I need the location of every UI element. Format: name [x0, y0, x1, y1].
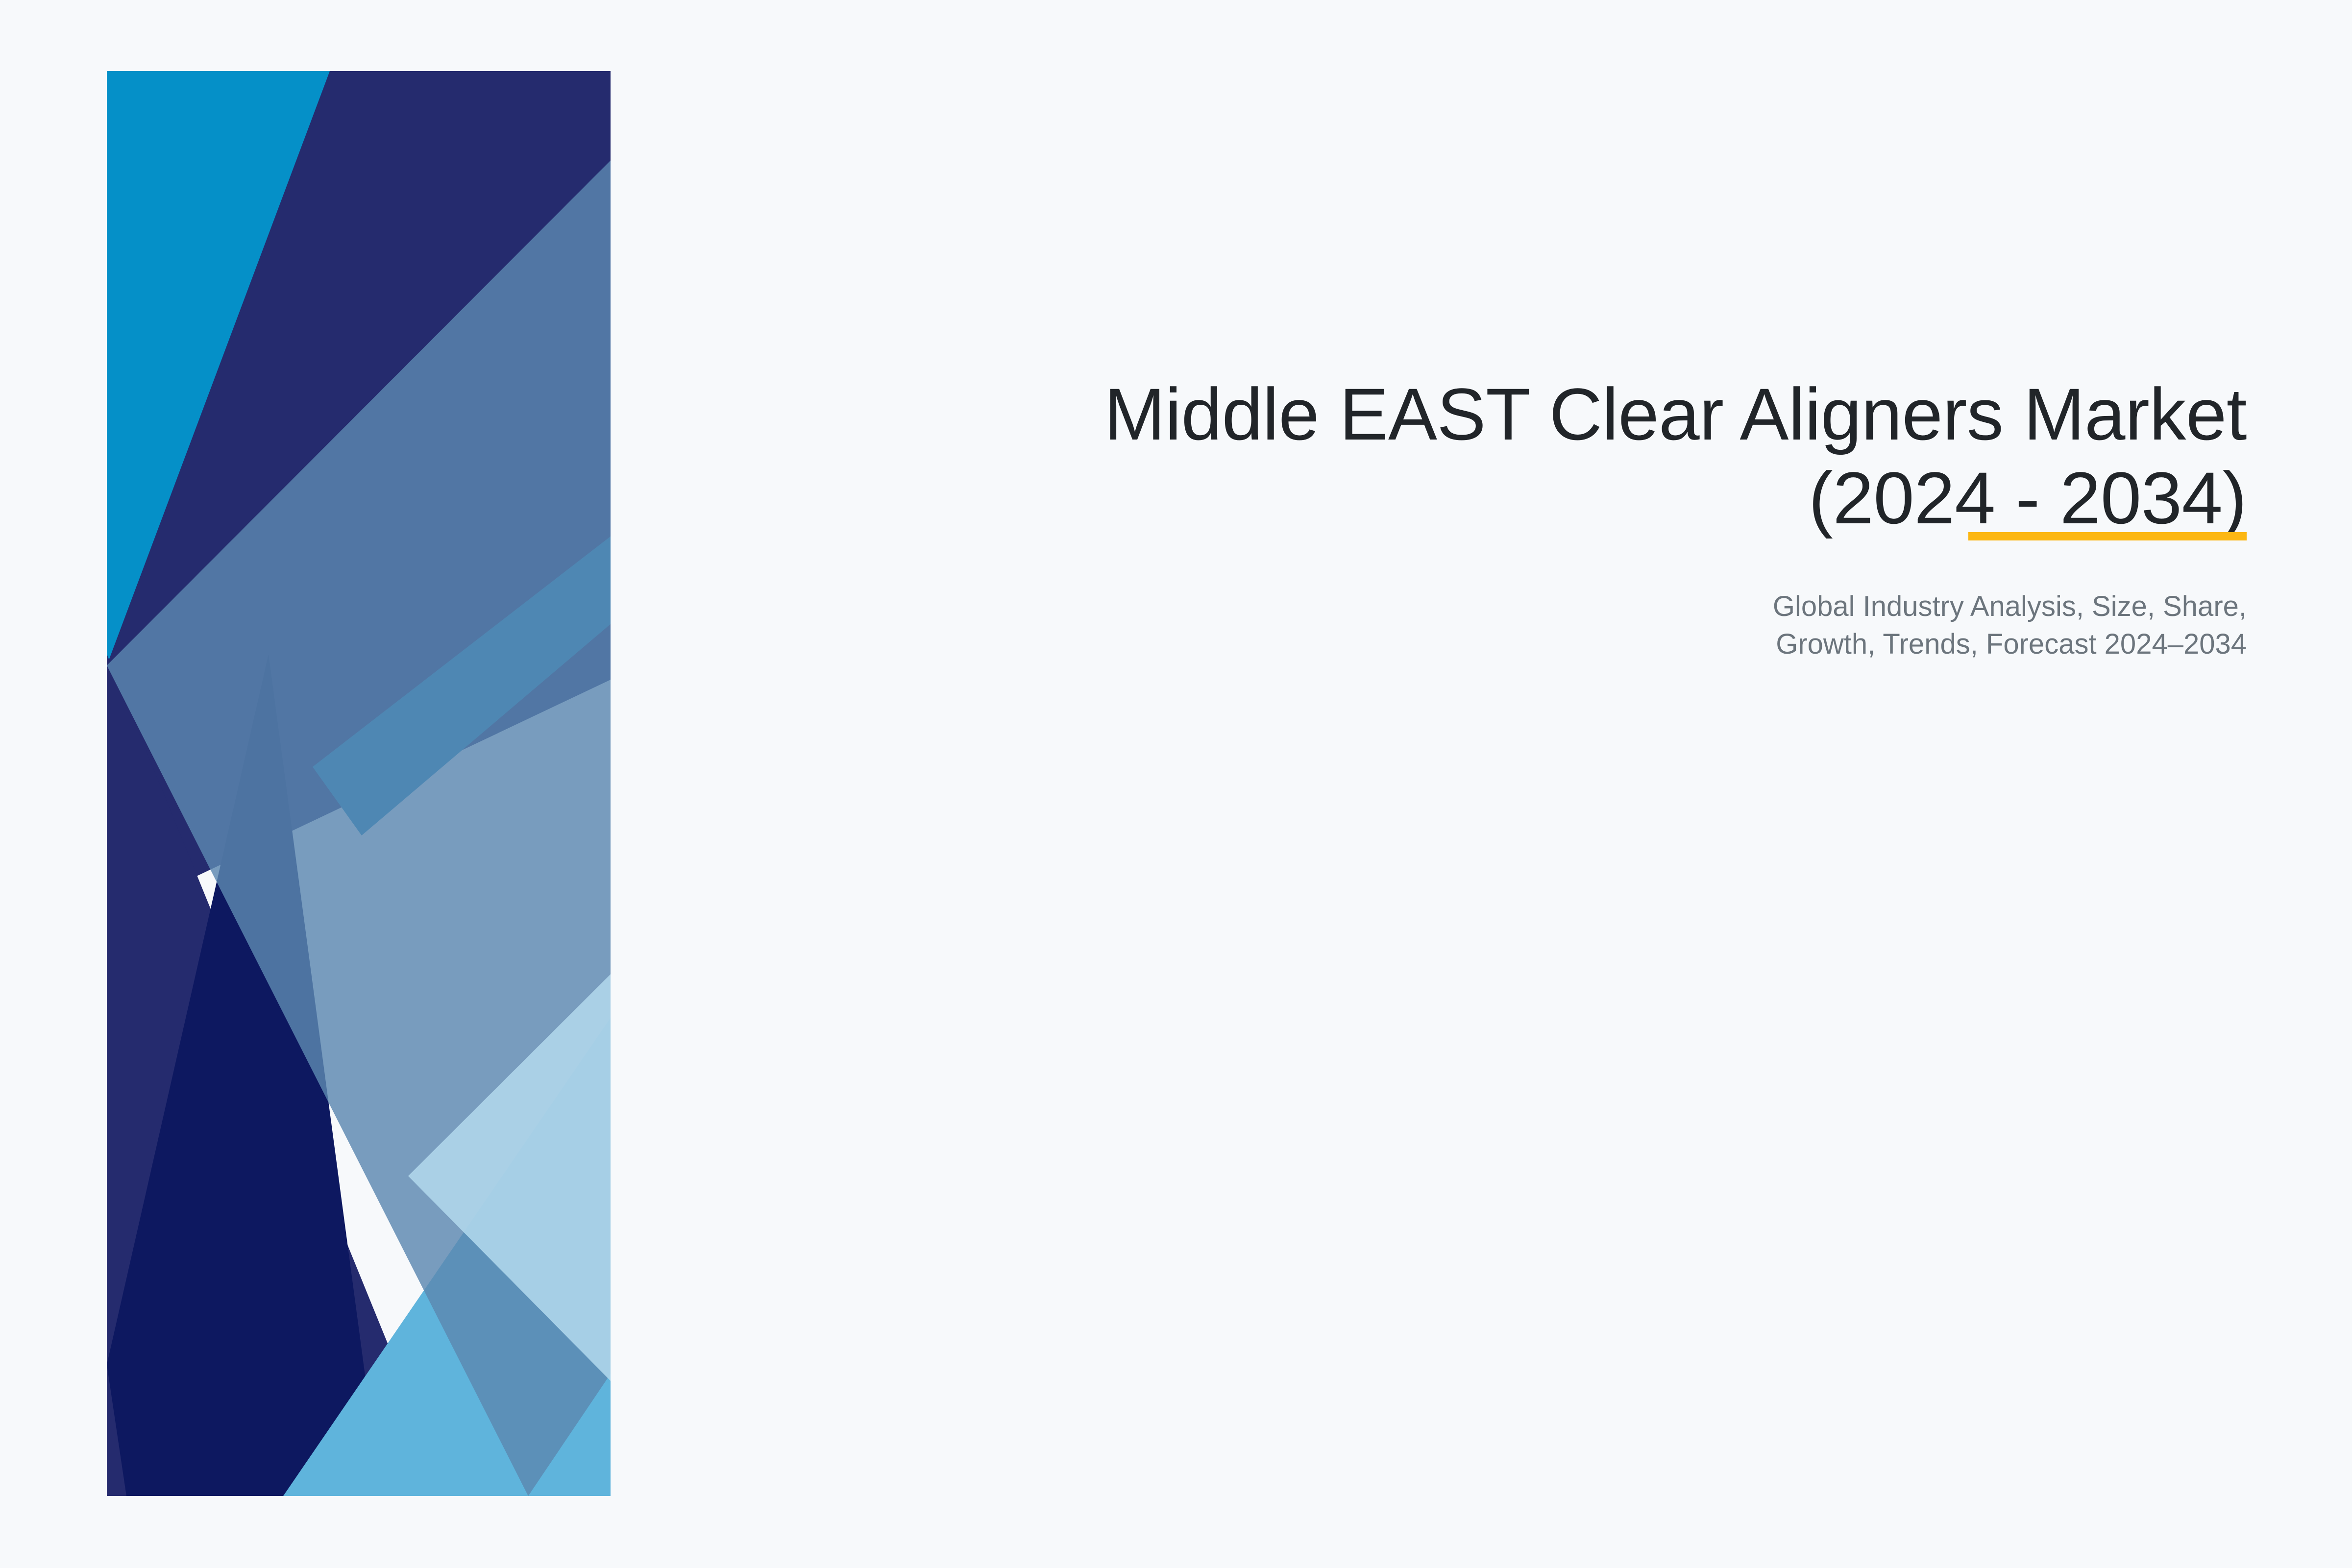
cover-page: Middle EAST Clear Aligners Market (2024 …: [0, 0, 2352, 1568]
page-subtitle-line-2: Growth, Trends, Forecast 2024–2034: [924, 626, 2247, 663]
page-subtitle-line-1: Global Industry Analysis, Size, Share,: [924, 588, 2247, 626]
page-subtitle: Global Industry Analysis, Size, Share, G…: [924, 588, 2247, 663]
page-title-line-1: Middle EAST Clear Aligners Market: [924, 372, 2247, 456]
page-title: Middle EAST Clear Aligners Market (2024 …: [924, 372, 2247, 540]
abstract-geometric-cover-graphic: [107, 71, 611, 1496]
cover-text-block: Middle EAST Clear Aligners Market (2024 …: [924, 372, 2247, 663]
accent-underline-rule: [1968, 532, 2247, 540]
page-title-line-2: (2024 - 2034): [924, 456, 2247, 540]
